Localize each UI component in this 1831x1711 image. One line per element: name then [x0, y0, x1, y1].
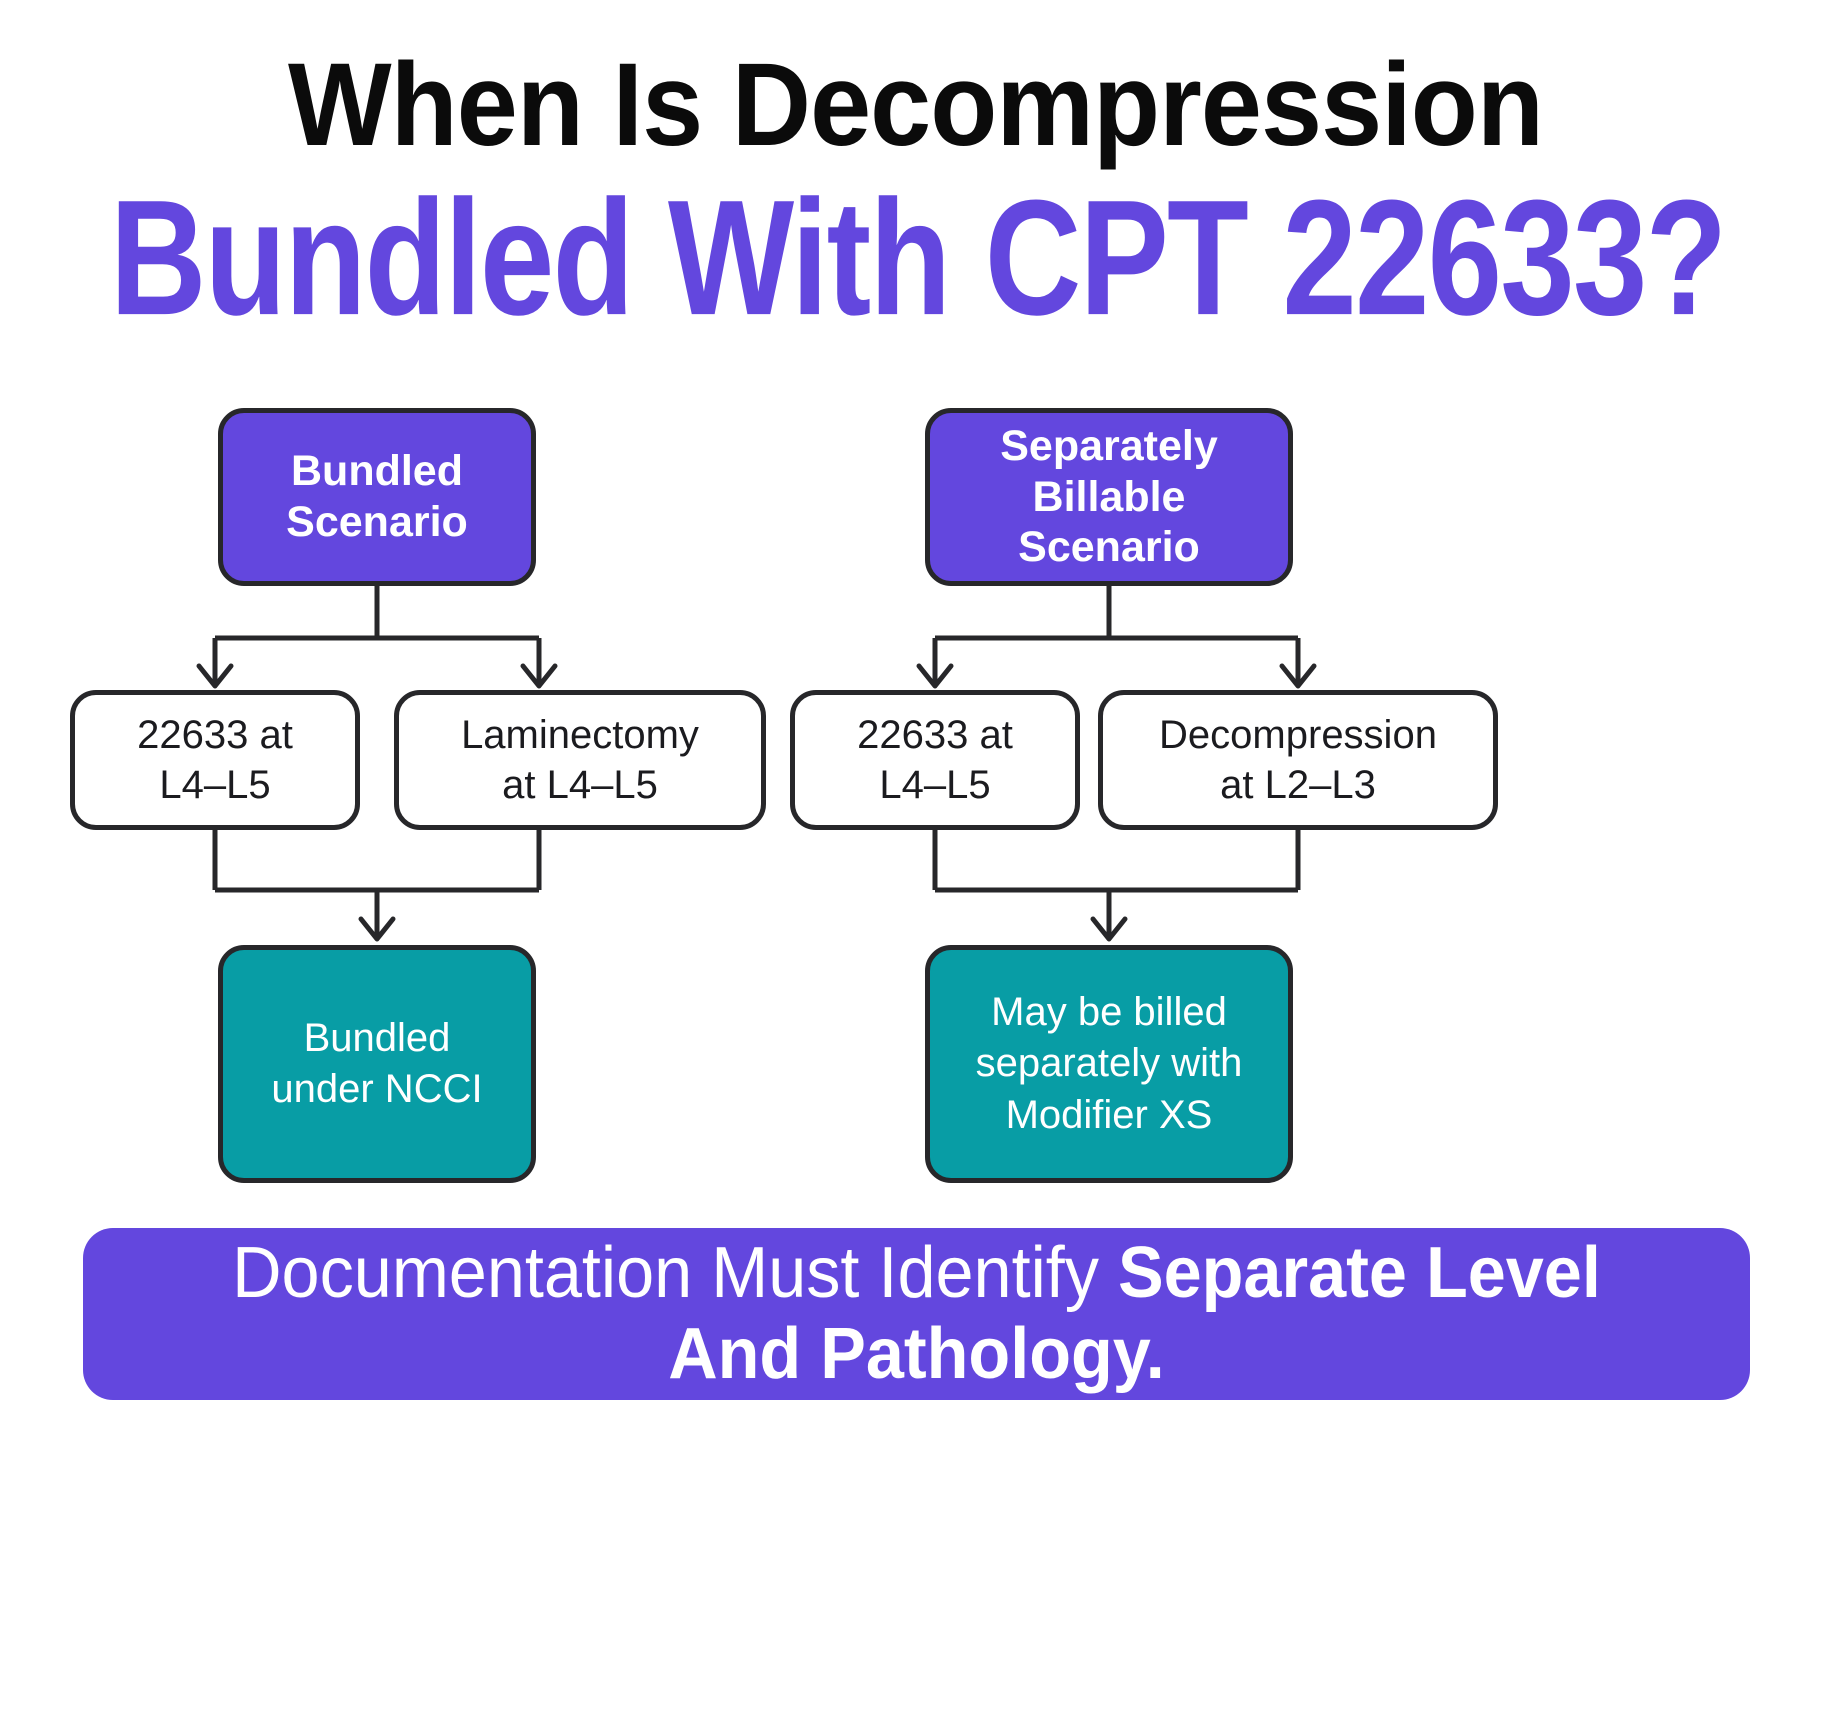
node-result-modifier-xs[interactable]: May be billed separately with Modifier X… — [925, 945, 1293, 1183]
footer-text-normal: Documentation Must Identify — [232, 1233, 1118, 1313]
node-separately-billable-scenario[interactable]: Separately Billable Scenario — [925, 408, 1293, 586]
footer-callout-text: Documentation Must Identify Separate Lev… — [163, 1233, 1671, 1394]
node-bundled-laminectomy[interactable]: Laminectomy at L4–L5 — [394, 690, 766, 830]
node-billable-decompression[interactable]: Decompression at L2–L3 — [1098, 690, 1498, 830]
node-bundled-scenario[interactable]: Bundled Scenario — [218, 408, 536, 586]
node-label: Laminectomy at L4–L5 — [461, 710, 699, 810]
footer-callout-banner: Documentation Must Identify Separate Lev… — [83, 1228, 1750, 1400]
node-label: 22633 at L4–L5 — [137, 710, 293, 810]
title-line-1: When Is Decompression — [64, 46, 1767, 164]
node-label: Bundled under NCCI — [271, 1013, 482, 1115]
node-label: 22633 at L4–L5 — [857, 710, 1013, 810]
node-result-bundled-under-ncci[interactable]: Bundled under NCCI — [218, 945, 536, 1183]
node-bundled-code-22633[interactable]: 22633 at L4–L5 — [70, 690, 360, 830]
page-title: When Is Decompression Bundled With CPT 2… — [0, 46, 1831, 334]
title-line-2: Bundled With CPT 22633? — [110, 176, 1721, 340]
node-label: May be billed separately with Modifier X… — [976, 987, 1243, 1141]
flow-diagram: Bundled Scenario 22633 at L4–L5 Laminect… — [0, 390, 1831, 1200]
node-billable-code-22633[interactable]: 22633 at L4–L5 — [790, 690, 1080, 830]
node-label: Separately Billable Scenario — [1000, 421, 1218, 573]
node-label: Decompression at L2–L3 — [1159, 710, 1437, 810]
node-label: Bundled Scenario — [286, 446, 468, 547]
